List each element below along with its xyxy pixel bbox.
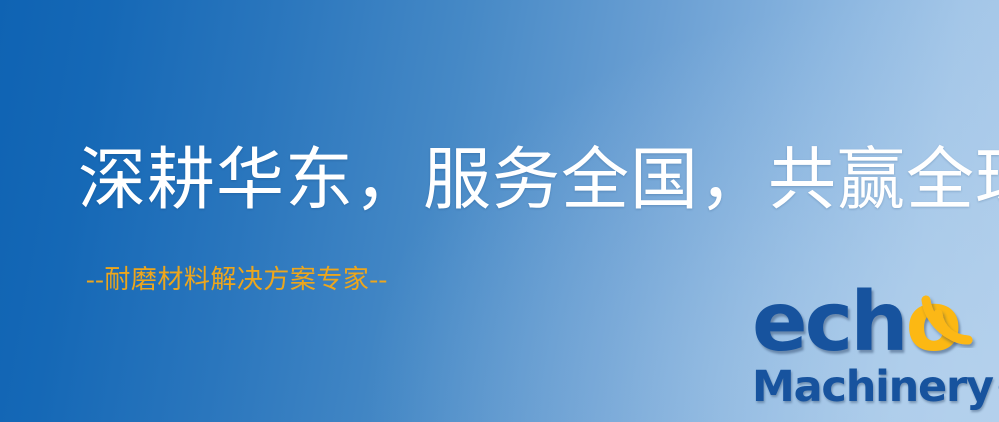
logo-tagline-row: Machinery®	[752, 366, 999, 409]
logo-machinery-text: Machinery	[752, 362, 993, 412]
logo-wordmark: echo	[748, 294, 994, 372]
promotional-banner: 深耕华东，服务全国，共赢全球 --耐磨材料解决方案专家-- echo Machi…	[0, 0, 999, 422]
banner-headline: 深耕华东，服务全国，共赢全球	[78, 146, 999, 214]
echo-machinery-logo: echo Machinery®	[742, 294, 994, 416]
logo-ech-letters: ech	[752, 275, 906, 370]
echo-signal-waves-icon	[916, 290, 978, 348]
banner-subtitle: --耐磨材料解决方案专家--	[86, 266, 388, 295]
